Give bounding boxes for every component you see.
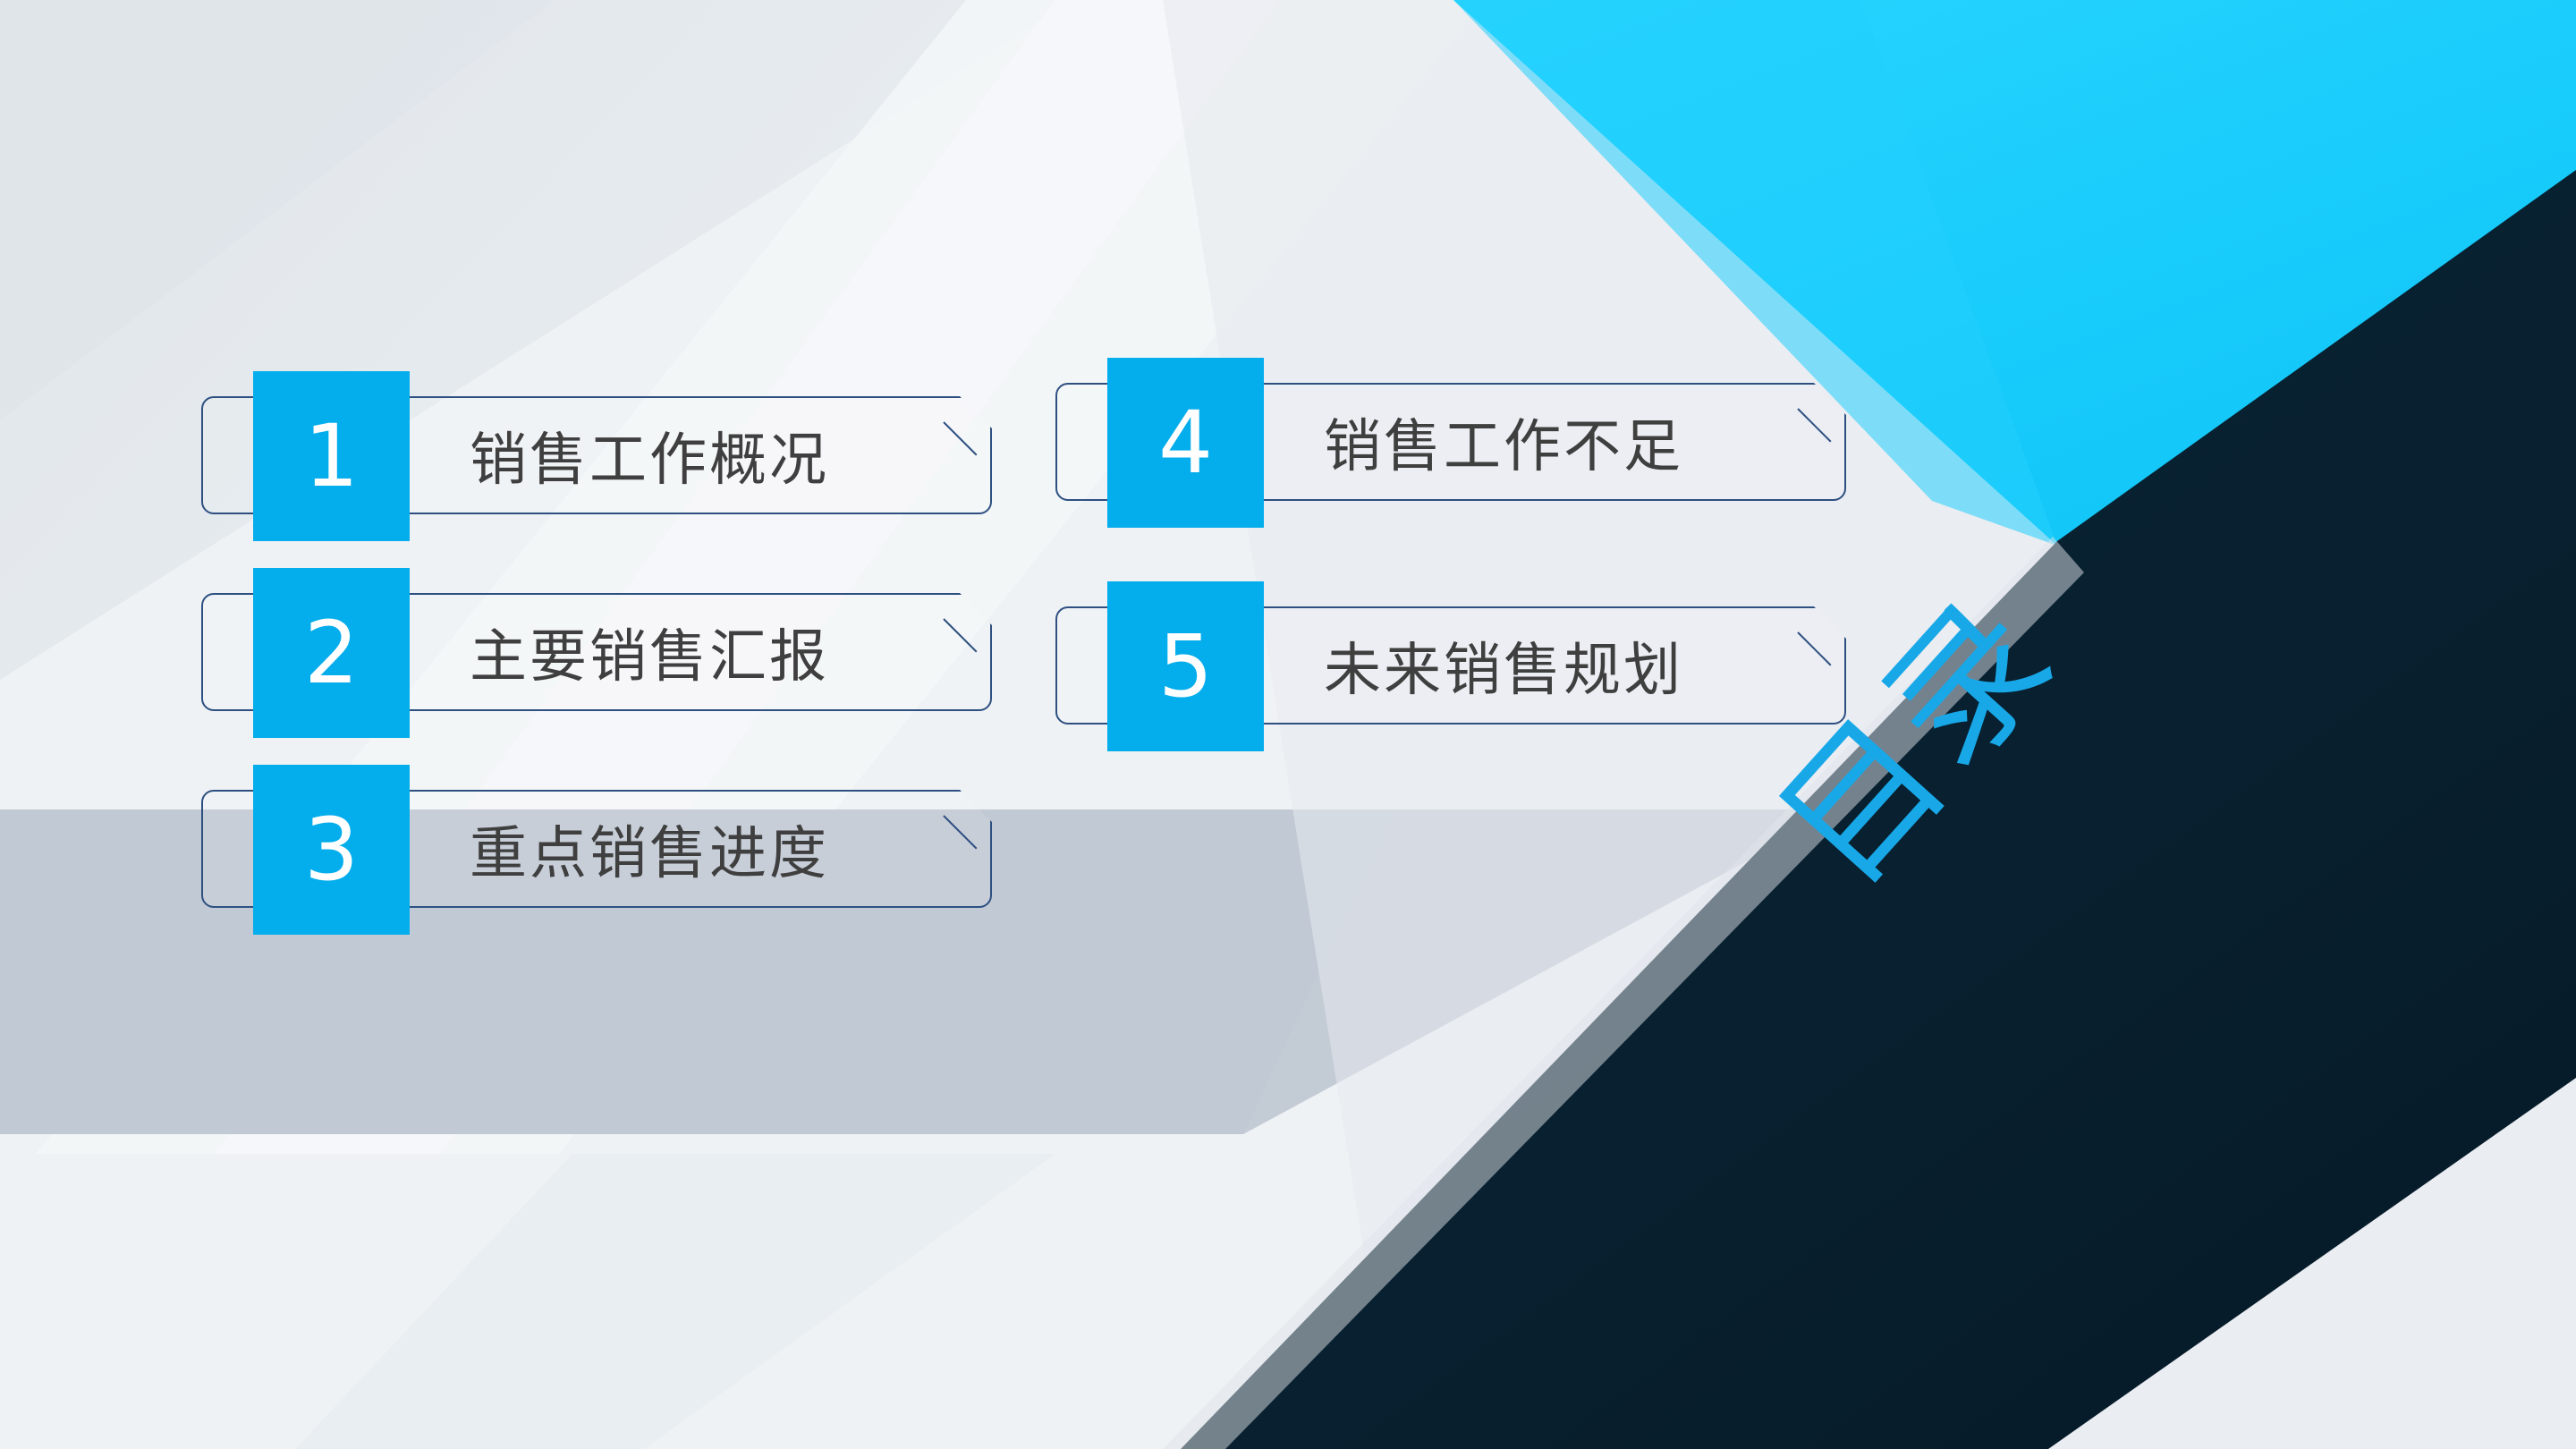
toc-item-1[interactable]: 1 销售工作概况 bbox=[201, 371, 997, 541]
toc-label-1: 销售工作概况 bbox=[470, 396, 829, 514]
toc-column-right: 4 销售工作不足 5 未来销售规划 bbox=[1055, 358, 1851, 751]
toc-number-box-3: 3 bbox=[253, 765, 410, 935]
chamfer-corner-icon bbox=[944, 618, 992, 666]
toc-number-box-4: 4 bbox=[1107, 358, 1264, 528]
toc-item-2[interactable]: 2 主要销售汇报 bbox=[201, 568, 997, 738]
toc-label-3: 重点销售进度 bbox=[470, 790, 829, 908]
slide-canvas: 目录 1 销售工作概况 2 主要销售汇报 3 bbox=[0, 0, 2576, 1449]
toc-item-4[interactable]: 4 销售工作不足 bbox=[1055, 358, 1851, 528]
toc-number-4: 4 bbox=[1158, 400, 1213, 486]
toc-column-left: 1 销售工作概况 2 主要销售汇报 3 重点销售进度 bbox=[201, 371, 997, 935]
toc-number-box-5: 5 bbox=[1107, 581, 1264, 751]
chamfer-corner-icon bbox=[944, 421, 992, 470]
chamfer-corner-icon bbox=[1798, 631, 1846, 680]
toc-number-box-1: 1 bbox=[253, 371, 410, 541]
chamfer-corner-icon bbox=[1798, 408, 1846, 456]
toc-number-3: 3 bbox=[304, 807, 359, 893]
chamfer-corner-icon bbox=[944, 815, 992, 863]
toc-label-5: 未来销售规划 bbox=[1324, 606, 1683, 724]
toc-label-4: 销售工作不足 bbox=[1324, 383, 1683, 501]
toc-number-5: 5 bbox=[1158, 623, 1213, 709]
toc-item-3[interactable]: 3 重点销售进度 bbox=[201, 765, 997, 935]
toc-label-2: 主要销售汇报 bbox=[470, 593, 829, 711]
toc-number-2: 2 bbox=[304, 610, 359, 696]
toc-item-5[interactable]: 5 未来销售规划 bbox=[1055, 581, 1851, 751]
toc-number-1: 1 bbox=[304, 413, 359, 499]
toc-number-box-2: 2 bbox=[253, 568, 410, 738]
